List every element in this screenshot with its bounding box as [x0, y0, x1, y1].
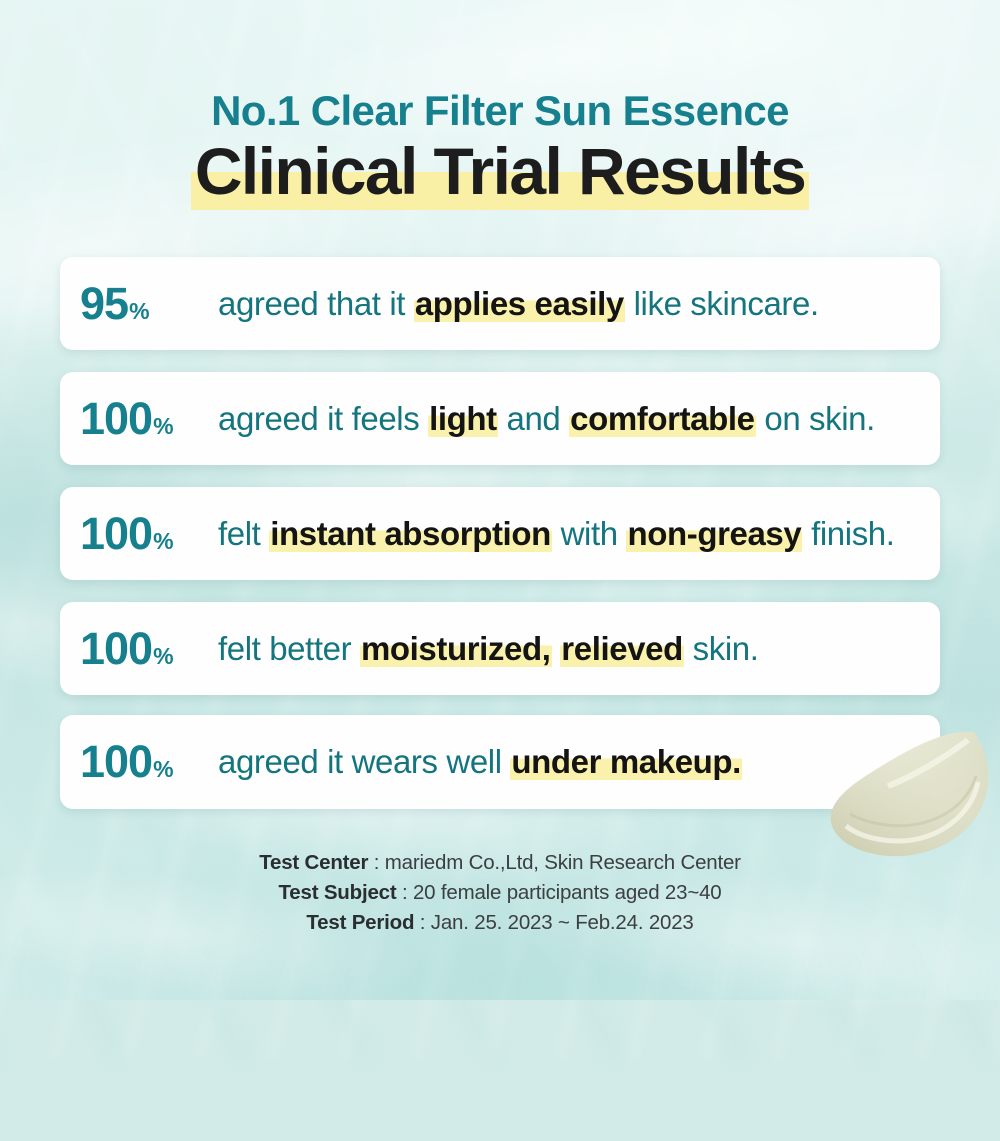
result-percentage: 100% [60, 508, 218, 560]
percent-sign: % [153, 643, 173, 669]
highlighted-phrase: instant absorption [269, 515, 552, 552]
result-card: 100%felt instant absorption with non-gre… [60, 487, 940, 580]
statement-text [552, 630, 561, 667]
result-percentage-number: 100 [80, 393, 152, 444]
result-percentage-number: 100 [80, 508, 152, 559]
percent-sign: % [153, 756, 173, 782]
result-percentage: 95% [60, 278, 218, 330]
statement-text: like skincare. [625, 285, 819, 322]
result-statement: agreed it wears well under makeup. [218, 743, 742, 781]
highlighted-phrase: comfortable [569, 400, 755, 437]
footer-separator: : [396, 881, 413, 904]
highlighted-phrase: under makeup. [510, 743, 742, 780]
highlighted-phrase: applies easily [414, 285, 625, 322]
percent-sign: % [153, 528, 173, 554]
result-percentage-number: 100 [80, 736, 152, 787]
result-card: 100%felt better moisturized, relieved sk… [60, 602, 940, 695]
result-percentage-number: 95 [80, 278, 128, 329]
footer-separator: : [368, 851, 385, 874]
page-title: Clinical Trial Results [0, 138, 1000, 204]
statement-text: finish. [802, 515, 894, 552]
result-statement: felt better moisturized, relieved skin. [218, 630, 758, 668]
statement-text: on skin. [756, 400, 875, 437]
footer-line: Test Subject : 20 female participants ag… [0, 878, 1000, 908]
footer-separator: : [414, 911, 431, 934]
highlighted-phrase: non-greasy [626, 515, 802, 552]
footer-label: Test Center [259, 851, 368, 874]
footer-line: Test Period : Jan. 25. 2023 ~ Feb.24. 20… [0, 908, 1000, 938]
result-statement: agreed that it applies easily like skinc… [218, 285, 819, 323]
result-card: 100%agreed it feels light and comfortabl… [60, 372, 940, 465]
product-kicker: No.1 Clear Filter Sun Essence [0, 87, 1000, 135]
footer-value: mariedm Co.,Ltd, Skin Research Center [385, 851, 741, 874]
statement-text: agreed it feels [218, 400, 428, 437]
footer-label: Test Period [306, 911, 414, 934]
highlighted-phrase: light [428, 400, 498, 437]
result-card: 95%agreed that it applies easily like sk… [60, 257, 940, 350]
statement-text: felt [218, 515, 269, 552]
highlighted-phrase: relieved [560, 630, 684, 667]
percent-sign: % [153, 413, 173, 439]
highlighted-phrase: moisturized, [360, 630, 552, 667]
result-percentage: 100% [60, 736, 218, 788]
page-title-text: Clinical Trial Results [191, 138, 809, 204]
footer-value: Jan. 25. 2023 ~ Feb.24. 2023 [431, 911, 694, 934]
result-percentage: 100% [60, 623, 218, 675]
result-statement: felt instant absorption with non-greasy … [218, 515, 895, 553]
statement-text: skin. [684, 630, 759, 667]
result-statement: agreed it feels light and comfortable on… [218, 400, 875, 438]
statement-text: agreed that it [218, 285, 414, 322]
footer-label: Test Subject [279, 881, 397, 904]
statement-text: felt better [218, 630, 360, 667]
result-percentage: 100% [60, 393, 218, 445]
footer-line: Test Center : mariedm Co.,Ltd, Skin Rese… [0, 848, 1000, 878]
statement-text: and [498, 400, 569, 437]
result-card: 100%agreed it wears well under makeup. [60, 715, 940, 809]
percent-sign: % [129, 298, 149, 324]
statement-text: agreed it wears well [218, 743, 510, 780]
footer-value: 20 female participants aged 23~40 [413, 881, 722, 904]
statement-text: with [552, 515, 627, 552]
result-percentage-number: 100 [80, 623, 152, 674]
test-details-footer: Test Center : mariedm Co.,Ltd, Skin Rese… [0, 848, 1000, 938]
